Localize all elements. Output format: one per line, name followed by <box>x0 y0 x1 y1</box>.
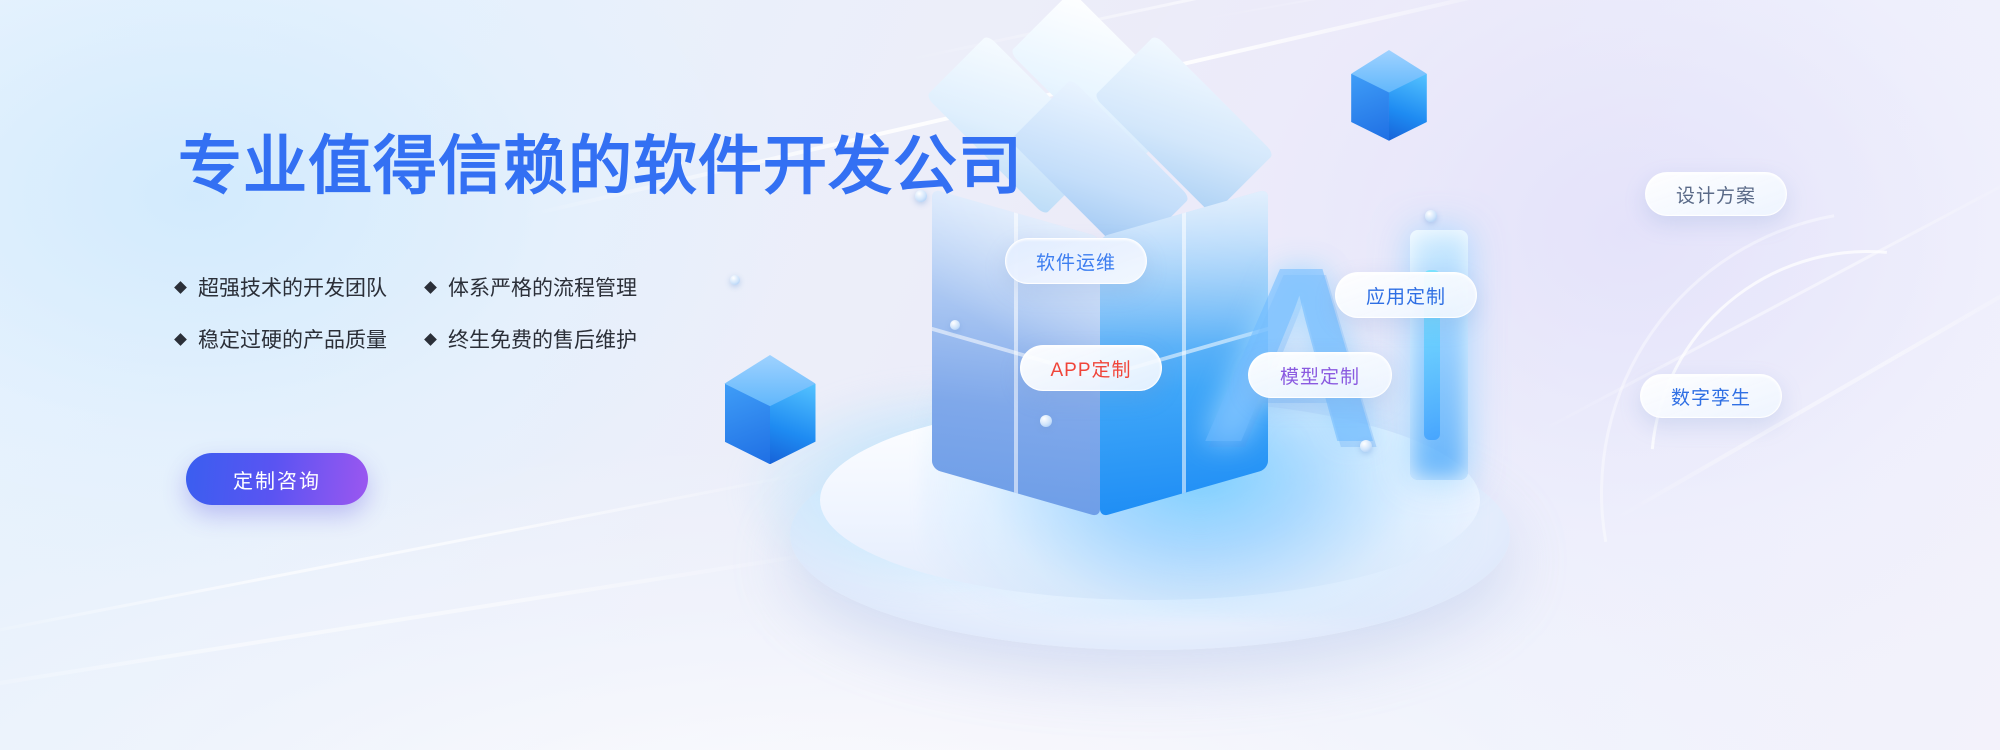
orbit-arc-icon <box>1561 161 2000 750</box>
connector-dot-icon <box>950 320 960 330</box>
glass-letter-i-icon <box>1410 230 1468 480</box>
feature-list: 超强技术的开发团队 体系严格的流程管理 稳定过硬的产品质量 终生免费的售后维护 <box>176 272 706 376</box>
connector-dot-icon <box>730 275 740 285</box>
tag-software-ops[interactable]: 软件运维 <box>1005 238 1147 284</box>
feature-item: 终生免费的售后维护 <box>426 324 637 354</box>
cube-left-face <box>725 384 771 465</box>
tag-model-customization[interactable]: 模型定制 <box>1248 352 1392 398</box>
diamond-bullet-icon <box>174 333 187 346</box>
tag-digital-twin[interactable]: 数字孪生 <box>1640 374 1782 418</box>
light-streak-icon <box>0 468 824 643</box>
tag-label: 设计方案 <box>1676 181 1756 208</box>
feature-label: 体系严格的流程管理 <box>448 272 637 302</box>
tag-label: 软件运维 <box>1036 248 1116 275</box>
connector-dot-icon <box>1360 440 1372 452</box>
podium-base <box>790 420 1510 650</box>
feature-label: 稳定过硬的产品质量 <box>198 324 387 354</box>
tag-app-customization[interactable]: 应用定制 <box>1335 272 1477 318</box>
light-streak-icon <box>1180 0 2000 24</box>
cube-right-face <box>770 384 816 465</box>
feature-item: 超强技术的开发团队 <box>176 272 426 302</box>
tag-label: 数字孪生 <box>1671 383 1751 410</box>
cube-top-face <box>725 355 816 412</box>
diamond-bullet-icon <box>424 281 437 294</box>
tag-design-plan[interactable]: 设计方案 <box>1645 172 1787 216</box>
feature-row: 稳定过硬的产品质量 终生免费的售后维护 <box>176 324 706 354</box>
cube-tile <box>1010 0 1191 171</box>
tag-label: 应用定制 <box>1366 282 1446 309</box>
connector-dot-icon <box>1040 415 1052 427</box>
cube-tile <box>1010 79 1191 260</box>
feature-item: 体系严格的流程管理 <box>426 272 637 302</box>
connector-dot-icon <box>1425 210 1437 222</box>
podium-glow <box>740 380 1160 600</box>
feature-label: 终生免费的售后维护 <box>448 324 637 354</box>
diamond-bullet-icon <box>424 333 437 346</box>
floating-cube-bottom-left <box>705 355 835 485</box>
podium-top <box>820 400 1480 600</box>
tag-app-dev[interactable]: APP定制 <box>1020 345 1162 391</box>
floating-cube-top-right <box>1335 50 1443 158</box>
light-streak-icon <box>900 0 1703 63</box>
light-streak-icon <box>0 544 868 704</box>
page-title: 专业值得信赖的软件开发公司 <box>178 134 1023 198</box>
cube-seam <box>1182 212 1186 493</box>
feature-label: 超强技术的开发团队 <box>198 272 387 302</box>
diamond-bullet-icon <box>174 281 187 294</box>
cube-right-face <box>1389 74 1427 141</box>
cube-top-face <box>1351 50 1427 98</box>
center-glow <box>920 300 1480 620</box>
feature-row: 超强技术的开发团队 体系严格的流程管理 <box>176 272 706 302</box>
cube-left-face <box>1351 74 1389 141</box>
tag-label: APP定制 <box>1050 355 1131 382</box>
cube-tile <box>1094 35 1275 216</box>
background-violet-glow <box>1080 0 2000 680</box>
custom-consult-button[interactable]: 定制咨询 <box>186 453 368 505</box>
feature-item: 稳定过硬的产品质量 <box>176 324 426 354</box>
hero-banner: A 专业值得信赖的软件开发公司 超强技术的开发团队 体系严格的流程管理 稳定过硬… <box>0 0 2000 750</box>
tag-label: 模型定制 <box>1280 362 1360 389</box>
